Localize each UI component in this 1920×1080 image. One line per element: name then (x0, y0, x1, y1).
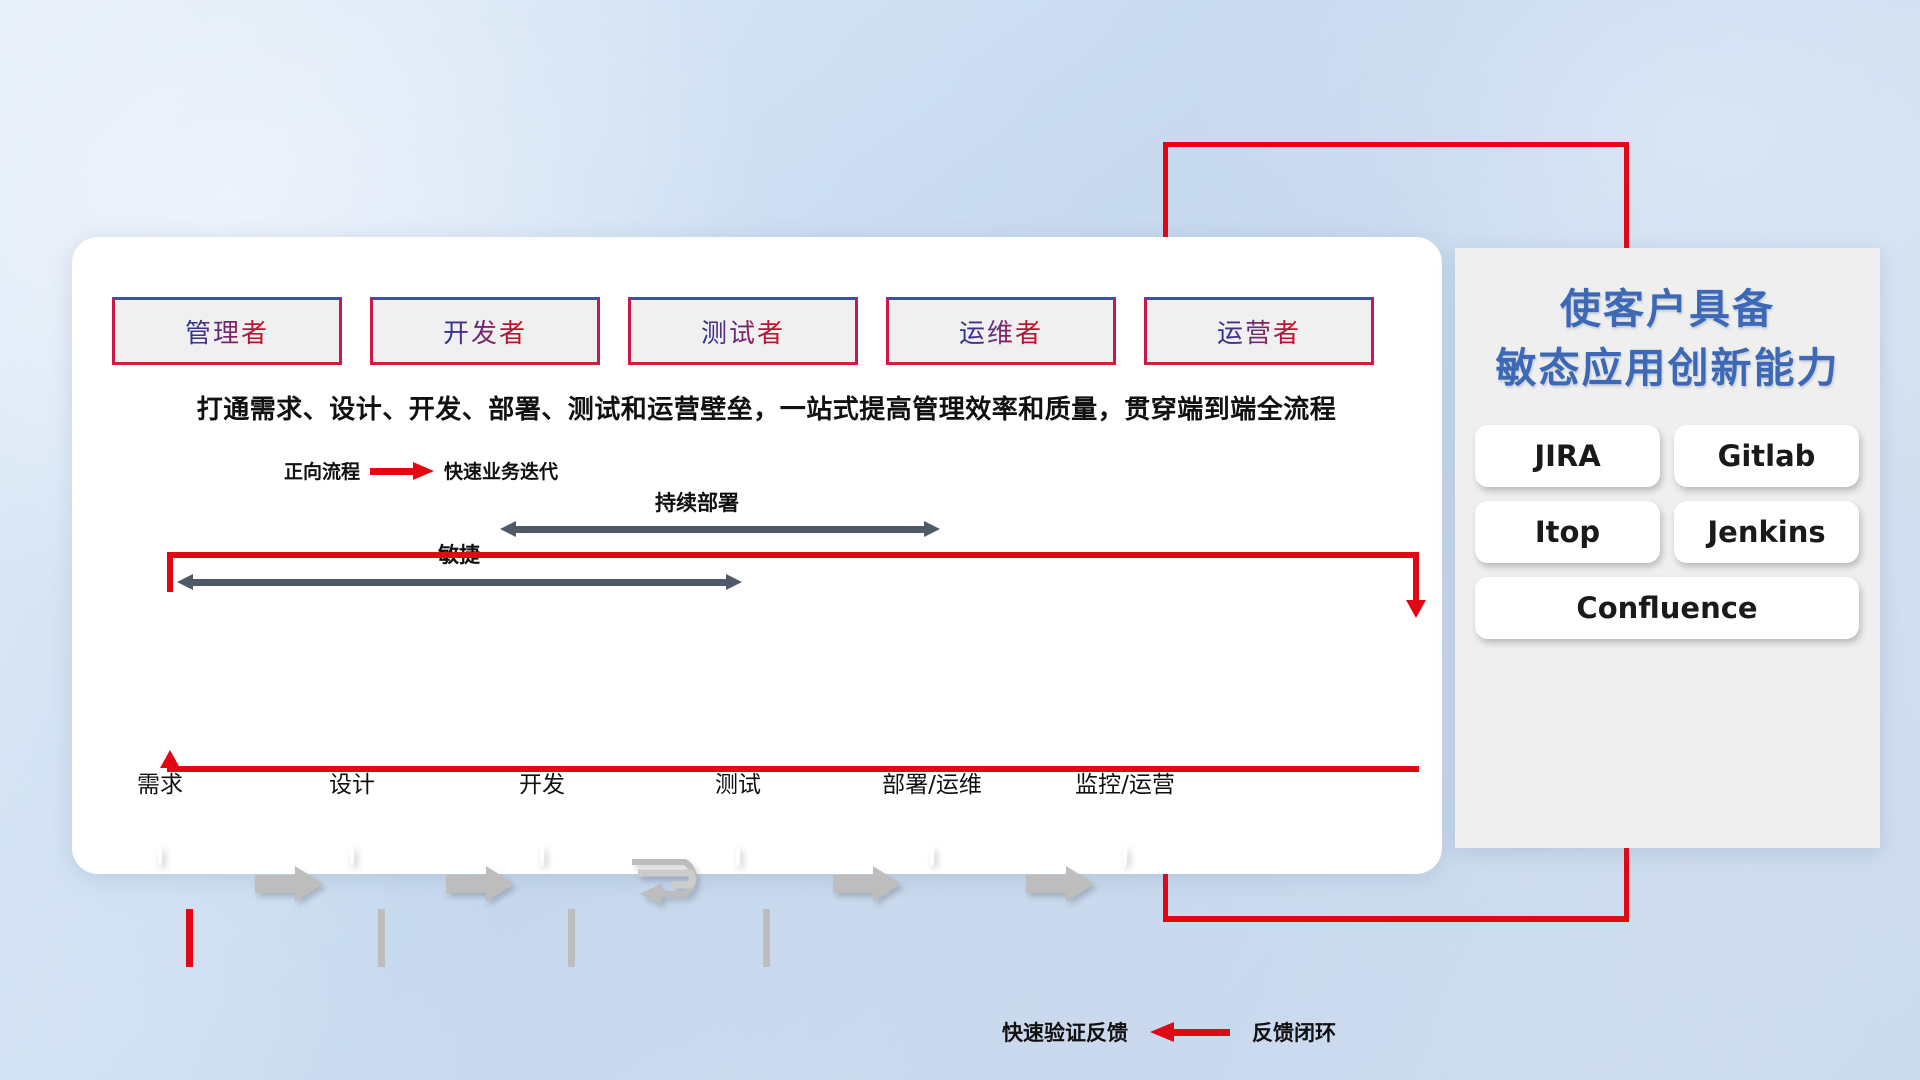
flow-arrow-4-icon (1026, 864, 1096, 904)
node-dot-icon (736, 845, 740, 866)
pipeline: 需求 设计 开发 测试 (158, 847, 1438, 937)
role-label: 运维者 (959, 313, 1043, 350)
tool-chip-jira[interactable]: JIRA (1475, 425, 1660, 487)
stem-develop (568, 909, 575, 967)
pipeline-node-label: 需求 (137, 765, 183, 799)
span-label-continuous-deployment: 持续部署 (655, 487, 739, 517)
node-dot-icon (1123, 845, 1127, 866)
pipeline-node-deploy-ops[interactable]: 部署/运维 (930, 847, 934, 865)
main-card: 管理者 开发者 测试者 运维者 运营者 打通需求、设计、开发、部署、测试和运营壁… (72, 237, 1442, 874)
pipeline-node-label: 设计 (329, 765, 375, 799)
legend-forward-right-label: 快速业务迭代 (444, 457, 558, 484)
legend-forward-flow: 正向流程 快速业务迭代 (284, 457, 558, 484)
tool-chip-confluence[interactable]: Confluence (1475, 577, 1859, 639)
pipeline-node-develop[interactable]: 开发 (540, 847, 544, 865)
arrow-right-red-icon (370, 465, 434, 477)
role-box-row: 管理者 开发者 测试者 运维者 运营者 (112, 297, 1374, 365)
role-label: 运营者 (1217, 313, 1301, 350)
stem-design (378, 909, 385, 967)
stem-requirement (186, 909, 193, 967)
pipeline-node-label: 开发 (519, 765, 565, 799)
node-dot-icon (158, 845, 162, 866)
side-panel: 使客户具备 敏态应用创新能力 JIRA Gitlab Itop Jenkins … (1455, 248, 1880, 848)
loop-arrowhead-down-icon (1406, 600, 1426, 618)
flow-arrow-1-icon (255, 864, 325, 904)
node-dot-icon (930, 845, 934, 866)
role-label: 管理者 (185, 313, 269, 350)
legend-feedback-right-label: 反馈闭环 (1252, 1017, 1336, 1047)
legend-feedback-loop: 快速验证反馈 反馈闭环 (1002, 1017, 1336, 1047)
tool-list: JIRA Gitlab Itop Jenkins Confluence (1475, 425, 1860, 639)
legend-feedback-left-label: 快速验证反馈 (1002, 1017, 1128, 1047)
side-panel-title: 使客户具备 敏态应用创新能力 (1455, 280, 1880, 399)
stem-test (763, 909, 770, 967)
pipeline-node-monitor-operations[interactable]: 监控/运营 (1123, 847, 1127, 865)
tool-chip-jenkins[interactable]: Jenkins (1674, 501, 1859, 563)
role-box-ops[interactable]: 运维者 (886, 297, 1116, 365)
role-box-tester[interactable]: 测试者 (628, 297, 858, 365)
pipeline-node-test[interactable]: 测试 (736, 847, 740, 865)
pipeline-node-label: 监控/运营 (1075, 765, 1175, 799)
side-panel-title-line2: 敏态应用创新能力 (1455, 339, 1880, 398)
legend-forward-left-label: 正向流程 (284, 457, 360, 484)
role-box-manager[interactable]: 管理者 (112, 297, 342, 365)
flow-arrow-2-icon (446, 864, 516, 904)
side-panel-title-line1: 使客户具备 (1455, 280, 1880, 339)
tool-chip-itop[interactable]: Itop (1475, 501, 1660, 563)
red-feedback-loop (167, 552, 1419, 772)
pipeline-node-requirement[interactable]: 需求 (158, 847, 162, 865)
flow-arrow-3-icon (833, 864, 903, 904)
headline-text: 打通需求、设计、开发、部署、测试和运营壁垒，一站式提高管理效率和质量，贯穿端到端… (124, 389, 1409, 426)
role-label: 测试者 (701, 313, 785, 350)
span-arrow-continuous-deployment-icon (500, 521, 940, 537)
arrow-left-red-icon (1150, 1025, 1230, 1039)
role-label: 开发者 (443, 313, 527, 350)
role-box-operations[interactable]: 运营者 (1144, 297, 1374, 365)
role-box-developer[interactable]: 开发者 (370, 297, 600, 365)
pipeline-node-label: 测试 (715, 765, 761, 799)
flow-arrow-uturn-iterate-icon (628, 851, 738, 917)
pipeline-node-design[interactable]: 设计 (350, 847, 354, 865)
pipeline-node-label: 部署/运维 (882, 765, 982, 799)
node-dot-icon (540, 845, 544, 866)
node-dot-icon (350, 845, 354, 866)
tool-chip-gitlab[interactable]: Gitlab (1674, 425, 1859, 487)
